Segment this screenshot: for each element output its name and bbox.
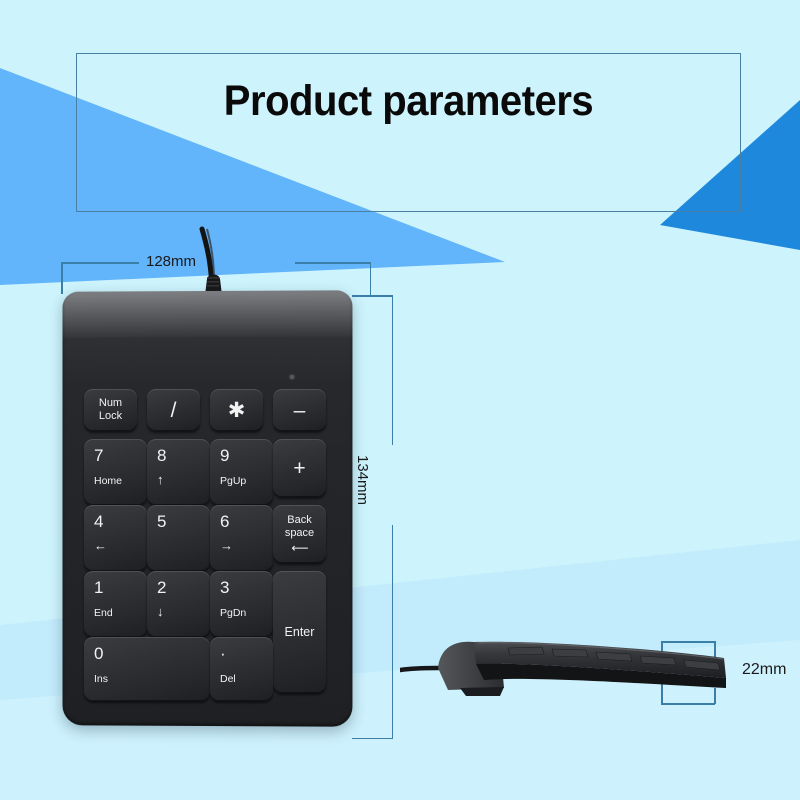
key-decimal-label: · [220,645,226,662]
key-key3-label: 3 [220,579,229,596]
numlock-led-indicator [290,375,294,379]
key-key4-label: 4 [94,513,103,530]
key-key6-arrow-icon: → [220,539,233,552]
key-key1[interactable]: 1End [84,571,147,637]
key-key4[interactable]: 4← [84,505,147,571]
key-minus-label: – [294,400,306,421]
key-key0-label: 0 [94,645,103,662]
key-decimal-sublabel: Del [220,673,236,685]
dimension-tick-top-height [352,295,393,297]
key-divide-label: / [171,400,177,421]
key-key2-label: 2 [157,579,166,596]
key-backspace-arrow-icon: ⟵ [291,542,307,554]
key-enter-label: Enter [285,626,315,639]
key-key3[interactable]: 3PgDn [210,571,273,637]
key-multiply-label: ✱ [228,400,246,421]
key-key8[interactable]: 8↑ [147,439,210,505]
numeric-keypad-side-view [400,596,730,711]
key-divide[interactable]: / [147,389,200,431]
key-key8-arrow-icon: ↑ [157,473,164,486]
key-decimal[interactable]: ·Del [210,637,273,701]
key-plus[interactable]: + [273,439,326,497]
key-key0-sublabel: Ins [94,673,108,685]
key-key9-label: 9 [220,447,229,464]
product-parameters-image: Product parameters 128mm 134mm 22mm NumL… [0,0,800,800]
key-numlock-label: NumLock [99,397,122,424]
dimension-label-height: 134mm [354,455,371,505]
key-minus[interactable]: – [273,389,326,431]
numeric-keypad-top-view: NumLock/✱–7Home8↑9PgUp+4←56→Backspace⟵1E… [62,291,352,726]
key-plus-label: + [293,458,305,479]
key-key4-arrow-icon: ← [94,539,107,552]
key-multiply[interactable]: ✱ [210,389,263,431]
key-key1-sublabel: End [94,607,113,619]
key-grid: NumLock/✱–7Home8↑9PgUp+4←56→Backspace⟵1E… [84,389,330,693]
dimension-line-height [392,295,394,445]
page-title: Product parameters [99,70,717,132]
key-key0[interactable]: 0Ins [84,637,210,701]
key-key1-label: 1 [94,579,103,596]
key-key3-sublabel: PgDn [220,607,246,619]
key-numlock[interactable]: NumLock [84,389,137,431]
key-key2[interactable]: 2↓ [147,571,210,637]
key-key8-label: 8 [157,447,166,464]
dimension-line-height-lower [392,525,394,739]
key-key5-label: 5 [157,513,166,530]
key-key9[interactable]: 9PgUp [210,439,273,505]
key-key7[interactable]: 7Home [84,439,147,505]
key-backspace[interactable]: Backspace⟵ [273,505,326,563]
dimension-tick-right-width [370,262,372,295]
key-key6-label: 6 [220,513,229,530]
key-backspace-label: Backspace [285,514,314,541]
usb-cable [62,229,352,299]
key-key5[interactable]: 5 [147,505,210,571]
key-key7-sublabel: Home [94,475,122,487]
key-key6[interactable]: 6→ [210,505,273,571]
key-enter[interactable]: Enter [273,571,326,693]
dimension-tick-bottom-height [352,738,393,740]
key-key9-sublabel: PgUp [220,475,246,487]
dimension-label-thickness: 22mm [742,661,786,679]
key-key2-arrow-icon: ↓ [157,605,164,618]
key-key7-label: 7 [94,447,103,464]
